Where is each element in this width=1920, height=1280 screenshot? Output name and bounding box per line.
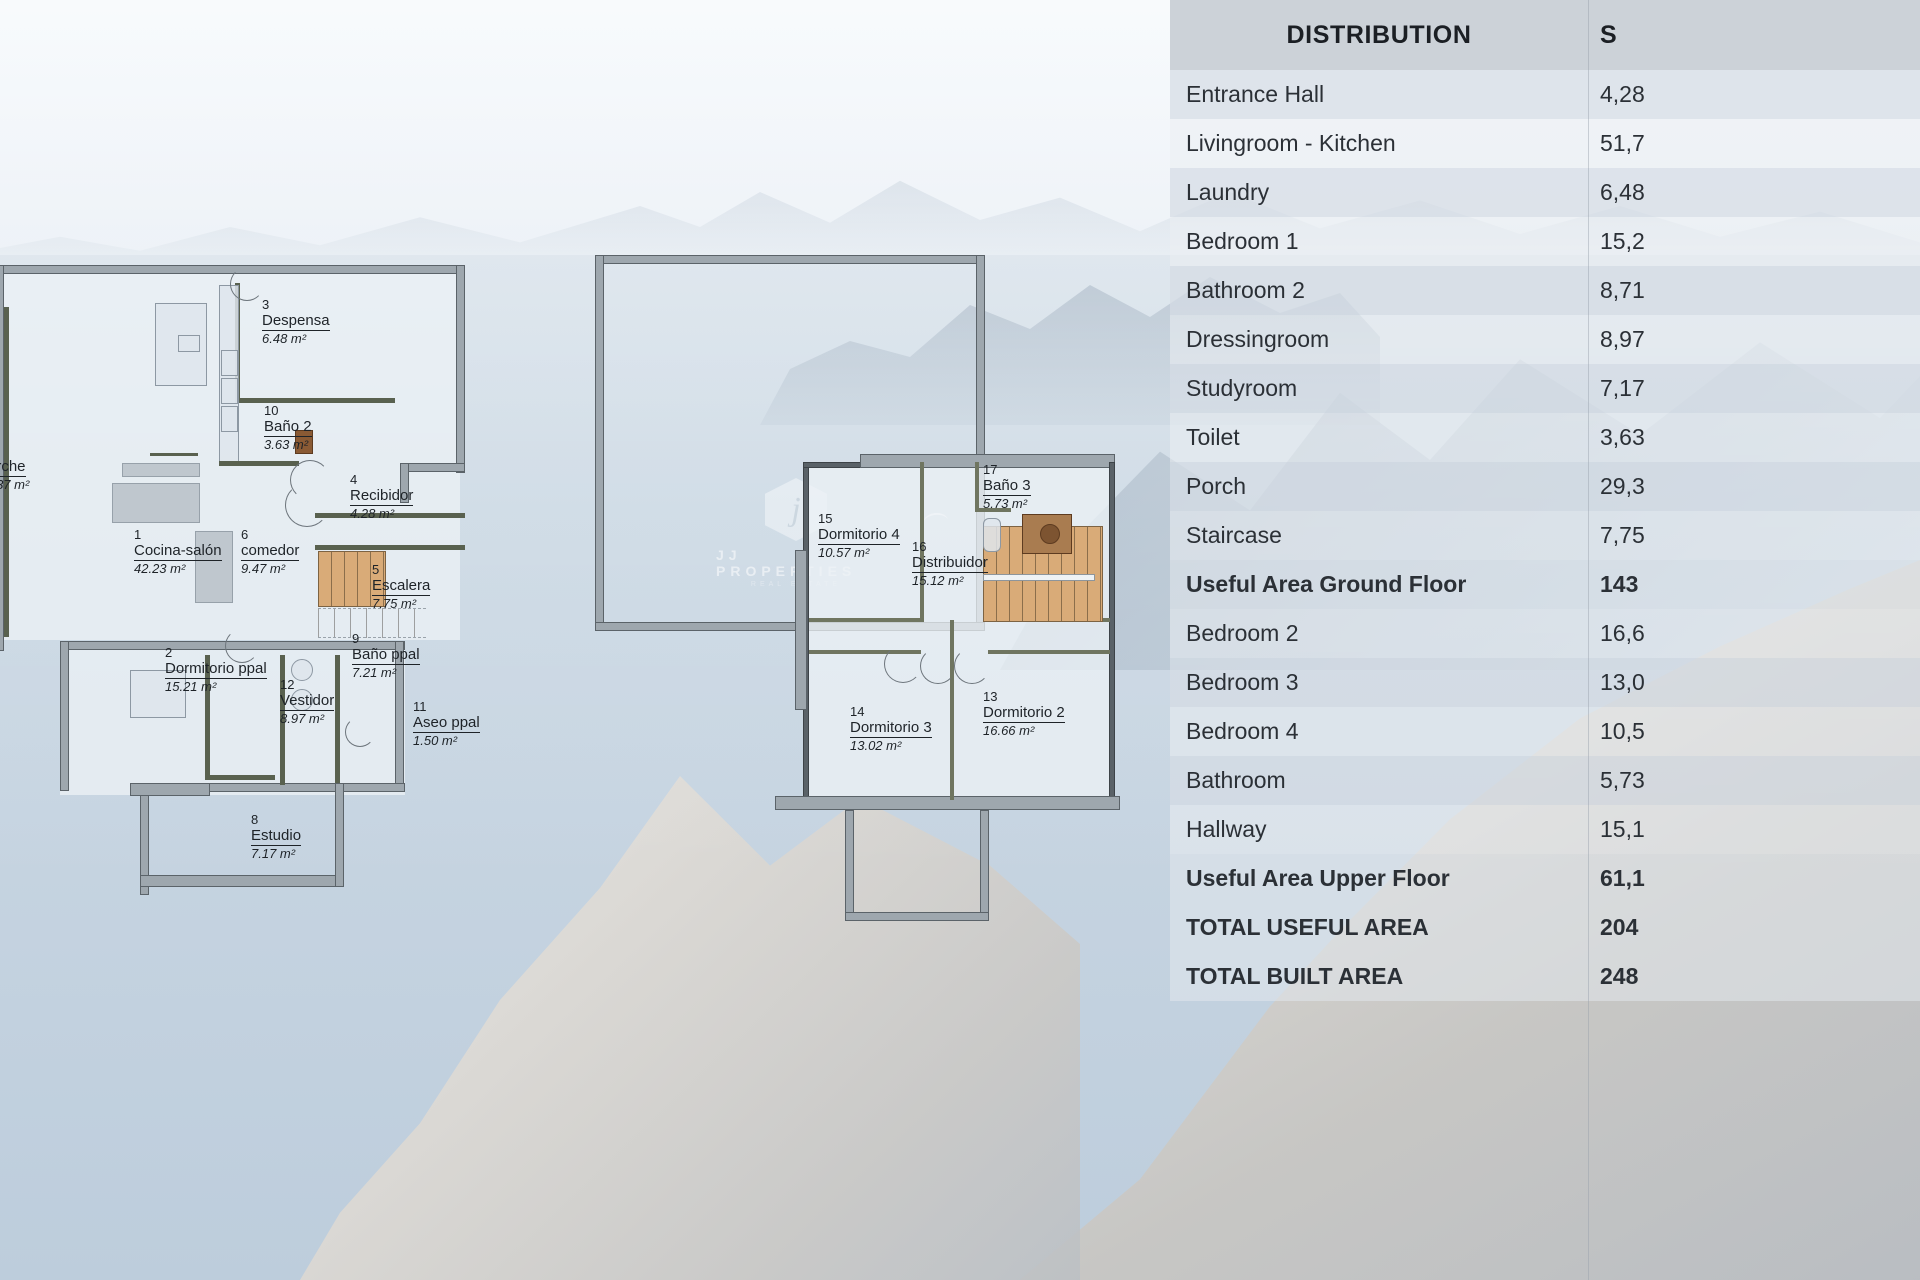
table-cell-name: Porch [1170, 473, 1588, 500]
room-area: 42.23 m² [134, 561, 222, 577]
uf-partition-horizontal-4 [988, 650, 1110, 654]
table-cell-value: 51,7 [1588, 130, 1920, 157]
gf-wall-step1 [400, 463, 465, 472]
ground_floor-room-label: 9Baño ppal7.21 m² [352, 632, 420, 681]
table-row: Porch29,3 [1170, 462, 1920, 511]
room-area: 15.12 m² [912, 573, 988, 589]
gf-counter-line [150, 453, 198, 456]
table-cell-value: 8,71 [1588, 277, 1920, 304]
gf-door-recibidor [285, 483, 329, 527]
distribution-table: DISTRIBUTION S Entrance Hall4,28Livingro… [1170, 0, 1920, 1280]
gf-wall-top [0, 265, 465, 274]
room-area: 4.28 m² [350, 506, 413, 522]
room-name: Aseo ppal [413, 714, 480, 733]
ground_floor-room-label: Porche29.37 m² [0, 458, 29, 493]
uf-wall-bottom [775, 796, 1120, 810]
table-cell-name: Hallway [1170, 816, 1588, 843]
table-body: Entrance Hall4,28Livingroom - Kitchen51,… [1170, 70, 1920, 1001]
gf-estudio-wall-right [335, 783, 344, 887]
room-name: Vestidor [280, 692, 334, 711]
room-number: 2 [165, 646, 267, 660]
gf-door-aseo [345, 717, 375, 747]
upper_floor-room-label: 14Dormitorio 313.02 m² [850, 705, 932, 754]
uf-basin-round [1040, 524, 1060, 544]
uf-door-dist-2 [954, 648, 990, 684]
table-cell-name: TOTAL USEFUL AREA [1170, 914, 1588, 941]
uf-bath3-wall [975, 462, 979, 512]
gf-bath2-wall [219, 461, 299, 466]
table-cell-value: 6,48 [1588, 179, 1920, 206]
table-row: TOTAL USEFUL AREA204 [1170, 903, 1920, 952]
table-cell-name: Entrance Hall [1170, 81, 1588, 108]
gf-shelf-c [221, 406, 238, 432]
room-name: Dormitorio ppal [165, 660, 267, 679]
table-cell-value: 7,17 [1588, 375, 1920, 402]
ground_floor-room-label: 2Dormitorio ppal15.21 m² [165, 646, 267, 695]
room-area: 29.37 m² [0, 477, 29, 493]
room-name: Dormitorio 2 [983, 704, 1065, 723]
table-cell-name: Useful Area Upper Floor [1170, 865, 1588, 892]
uf-stair-rail [983, 574, 1095, 581]
table-row: Bedroom 115,2 [1170, 217, 1920, 266]
table-header-distribution: DISTRIBUTION [1170, 21, 1588, 50]
room-area: 1.50 m² [413, 733, 480, 749]
room-area: 13.02 m² [850, 738, 932, 754]
gf-shelf-b [221, 378, 238, 404]
room-name: Escalera [372, 577, 430, 596]
table-cell-name: Bathroom [1170, 767, 1588, 794]
table-cell-name: TOTAL BUILT AREA [1170, 963, 1588, 990]
table-row: Useful Area Upper Floor61,1 [1170, 854, 1920, 903]
gf-vestidor-wall-bottom [205, 775, 275, 780]
table-row: Bedroom 410,5 [1170, 707, 1920, 756]
table-cell-name: Toilet [1170, 424, 1588, 451]
table-cell-value: 204 [1588, 914, 1920, 941]
room-area: 3.63 m² [264, 437, 312, 453]
room-number: 16 [912, 540, 988, 554]
table-cell-value: 10,5 [1588, 718, 1920, 745]
room-name: Dormitorio 4 [818, 526, 900, 545]
table-cell-name: Bedroom 2 [1170, 620, 1588, 647]
ground_floor-room-label: 11Aseo ppal1.50 m² [413, 700, 480, 749]
ground_floor-room-label: 5Escalera7.75 m² [372, 563, 430, 612]
table-cell-name: Laundry [1170, 179, 1588, 206]
gf-shelf-a [221, 350, 238, 376]
table-row: Staircase7,75 [1170, 511, 1920, 560]
table-row: Bedroom 216,6 [1170, 609, 1920, 658]
table-cell-name: Bedroom 1 [1170, 228, 1588, 255]
room-number: 3 [262, 298, 330, 312]
room-area: 9.47 m² [241, 561, 299, 577]
room-name: Baño 3 [983, 477, 1031, 496]
table-row: Dressingroom8,97 [1170, 315, 1920, 364]
table-cell-name: Staircase [1170, 522, 1588, 549]
room-number: 6 [241, 528, 299, 542]
table-row: Useful Area Ground Floor143 [1170, 560, 1920, 609]
room-number: 12 [280, 678, 334, 692]
table-cell-value: 13,0 [1588, 669, 1920, 696]
table-cell-value: 61,1 [1588, 865, 1920, 892]
room-number: 17 [983, 463, 1031, 477]
room-name: comedor [241, 542, 299, 561]
table-cell-value: 143 [1588, 571, 1920, 598]
table-header-surface: S [1588, 21, 1920, 50]
room-name: Baño 2 [264, 418, 312, 437]
ground_floor-room-label: 1Cocina-salón42.23 m² [134, 528, 222, 577]
gf-wall-right-upper [456, 265, 465, 473]
gf-door-despensa [230, 267, 264, 301]
uf-terrace-top [595, 255, 985, 264]
uf-lower-terrace-bottom [845, 912, 989, 921]
table-cell-value: 7,75 [1588, 522, 1920, 549]
table-row: Hallway15,1 [1170, 805, 1920, 854]
uf-partition-horizontal-1 [809, 618, 921, 622]
gf-sofa [112, 483, 200, 523]
gf-estudio-wall-bottom [140, 875, 340, 887]
table-row: Studyroom7,17 [1170, 364, 1920, 413]
room-name: Distribuidor [912, 554, 988, 573]
table-cell-value: 15,2 [1588, 228, 1920, 255]
room-area: 7.21 m² [352, 665, 420, 681]
gf-despensa-wall-bottom [235, 398, 395, 403]
ground_floor-room-label: 4Recibidor4.28 m² [350, 473, 413, 522]
table-header-row: DISTRIBUTION S [1170, 0, 1920, 70]
table-cell-name: Bathroom 2 [1170, 277, 1588, 304]
ground_floor-room-label: 10Baño 23.63 m² [264, 404, 312, 453]
table-cell-name: Livingroom - Kitchen [1170, 130, 1588, 157]
upper_floor-room-label: 15Dormitorio 410.57 m² [818, 512, 900, 561]
table-cell-name: Bedroom 4 [1170, 718, 1588, 745]
room-name: Porche [0, 458, 26, 477]
uf-lower-terrace-right [980, 810, 989, 920]
room-number: 11 [413, 700, 480, 714]
room-area: 7.75 m² [372, 596, 430, 612]
table-row: Laundry6,48 [1170, 168, 1920, 217]
room-number: 15 [818, 512, 900, 526]
table-row: Toilet3,63 [1170, 413, 1920, 462]
table-cell-name: Dressingroom [1170, 326, 1588, 353]
room-area: 15.21 m² [165, 679, 267, 695]
ground_floor-room-label: 3Despensa6.48 m² [262, 298, 330, 347]
table-cell-value: 4,28 [1588, 81, 1920, 108]
room-name: Recibidor [350, 487, 413, 506]
room-number: 14 [850, 705, 932, 719]
table-row: Bathroom5,73 [1170, 756, 1920, 805]
room-area: 6.48 m² [262, 331, 330, 347]
upper_floor-room-label: 17Baño 35.73 m² [983, 463, 1031, 512]
uf-door-dist-1 [920, 648, 956, 684]
table-cell-name: Bedroom 3 [1170, 669, 1588, 696]
room-name: Baño ppal [352, 646, 420, 665]
table-row: Bathroom 28,71 [1170, 266, 1920, 315]
room-area: 16.66 m² [983, 723, 1065, 739]
table-cell-value: 248 [1588, 963, 1920, 990]
table-cell-value: 5,73 [1588, 767, 1920, 794]
table-cell-name: Useful Area Ground Floor [1170, 571, 1588, 598]
table-cell-name: Studyroom [1170, 375, 1588, 402]
room-name: Estudio [251, 827, 301, 846]
table-row: TOTAL BUILT AREA248 [1170, 952, 1920, 1001]
upper_floor-room-label: 16Distribuidor15.12 m² [912, 540, 988, 589]
room-area: 8.97 m² [280, 711, 334, 727]
uf-terrace-left [595, 255, 604, 630]
table-cell-value: 3,63 [1588, 424, 1920, 451]
upper-floor-plan [590, 250, 1150, 890]
table-cell-value: 16,6 [1588, 620, 1920, 647]
gf-aseo-wall [335, 655, 340, 785]
room-area: 5.73 m² [983, 496, 1031, 512]
room-name: Despensa [262, 312, 330, 331]
room-number: 1 [134, 528, 222, 542]
uf-lower-terrace-left [845, 810, 854, 920]
uf-wall-top-left [803, 462, 863, 468]
ground_floor-room-label: 8Estudio7.17 m² [251, 813, 301, 862]
room-area: 7.17 m² [251, 846, 301, 862]
upper_floor-room-label: 13Dormitorio 216.66 m² [983, 690, 1065, 739]
room-area: 10.57 m² [818, 545, 900, 561]
table-cell-value: 29,3 [1588, 473, 1920, 500]
uf-wall-left-outer [795, 550, 807, 710]
room-number: 13 [983, 690, 1065, 704]
table-cell-value: 15,1 [1588, 816, 1920, 843]
room-number: 5 [372, 563, 430, 577]
ground_floor-room-label: 12Vestidor8.97 m² [280, 678, 334, 727]
table-cell-value: 8,97 [1588, 326, 1920, 353]
room-name: Dormitorio 3 [850, 719, 932, 738]
room-number: 9 [352, 632, 420, 646]
table-row: Livingroom - Kitchen51,7 [1170, 119, 1920, 168]
uf-wall-right [1109, 462, 1115, 802]
table-row: Entrance Hall4,28 [1170, 70, 1920, 119]
uf-door-dorm4 [884, 645, 922, 683]
table-row: Bedroom 313,0 [1170, 658, 1920, 707]
gf-sideboard [122, 463, 200, 477]
gf-sink [178, 335, 200, 352]
gf-hall-wall-bottom [315, 545, 465, 550]
room-number: 10 [264, 404, 312, 418]
table-column-divider [1588, 0, 1589, 1280]
room-name: Cocina-salón [134, 542, 222, 561]
room-number: 8 [251, 813, 301, 827]
ground_floor-room-label: 6comedor9.47 m² [241, 528, 299, 577]
uf-partition-vertical-2 [950, 620, 954, 800]
room-number: 4 [350, 473, 413, 487]
gf-lower-left-wall [60, 641, 69, 791]
